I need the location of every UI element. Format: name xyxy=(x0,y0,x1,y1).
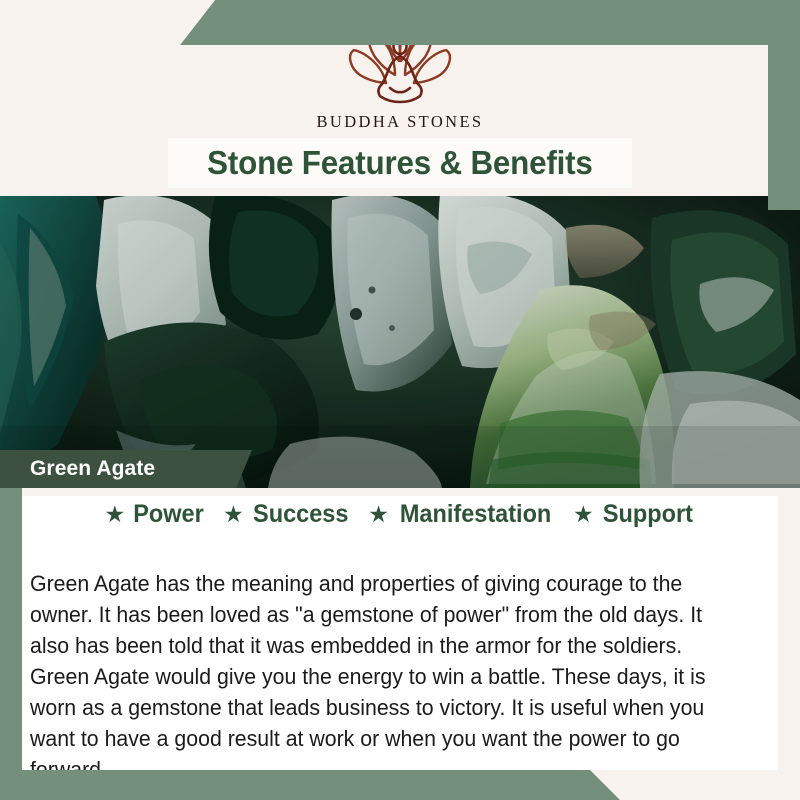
benefit-label: Manifestation xyxy=(400,500,551,529)
benefit-item-support: ★ Support xyxy=(573,500,695,529)
benefit-label: Support xyxy=(603,500,693,529)
benefit-item-manifestation: ★ Manifestation xyxy=(368,500,556,529)
benefit-label: Success xyxy=(253,500,348,529)
body-panel: ★ Power ★ Success ★ Manifestation ★ Supp… xyxy=(22,488,778,770)
benefit-label: Power xyxy=(133,500,204,529)
star-icon: ★ xyxy=(368,503,389,526)
benefit-item-success: ★ Success xyxy=(223,500,351,529)
title-band: Stone Features & Benefits xyxy=(168,138,632,188)
star-icon: ★ xyxy=(105,503,126,526)
body-top-strip xyxy=(22,488,778,496)
stone-name-label: Green Agate xyxy=(0,457,155,481)
benefit-item-power: ★ Power xyxy=(105,500,207,529)
benefits-list: ★ Power ★ Success ★ Manifestation ★ Supp… xyxy=(22,500,778,529)
frame-accent-left xyxy=(0,488,22,776)
page-title: Stone Features & Benefits xyxy=(207,144,592,182)
star-icon: ★ xyxy=(223,503,244,526)
green-agate-photo xyxy=(0,194,800,488)
stone-description: Green Agate has the meaning and properti… xyxy=(30,568,739,785)
brand-wordmark: BUDDHA STONES xyxy=(0,112,800,132)
infographic-card: BUDDHA STONES Stone Features & Benefits … xyxy=(0,0,800,800)
frame-accent-right xyxy=(768,0,800,210)
star-icon: ★ xyxy=(573,503,594,526)
stone-name-banner: Green Agate xyxy=(0,450,252,488)
